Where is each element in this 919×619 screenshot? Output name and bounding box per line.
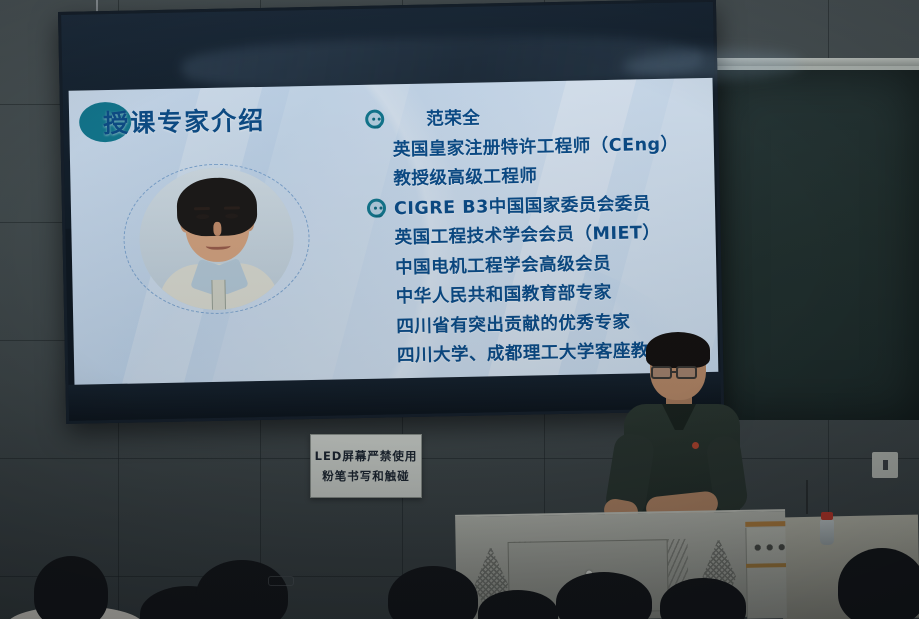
scene-vignette [0,0,919,619]
lecture-hall-scene: 授课专家介绍 范荣全英国皇家注册特许工程师（CEng）教授级高级工程师C [0,0,919,619]
